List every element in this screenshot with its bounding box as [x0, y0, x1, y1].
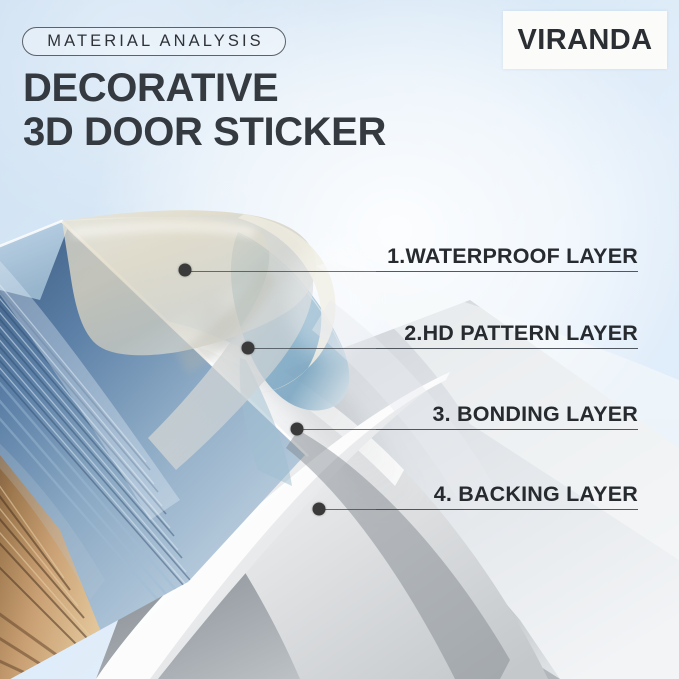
callout-leader-1: [191, 271, 638, 272]
callout-dot-3: [291, 423, 304, 436]
eyebrow-label: MATERIAL ANALYSIS: [44, 32, 264, 51]
eyebrow-pill: MATERIAL ANALYSIS: [22, 27, 286, 56]
brand-name: VIRANDA: [518, 24, 653, 57]
poster-canvas: MATERIAL ANALYSIS DECORATIVE 3D DOOR STI…: [0, 0, 679, 679]
headline-line-2: 3D DOOR STICKER: [23, 110, 386, 154]
callout-label-1: 1.WATERPROOF LAYER: [387, 244, 638, 269]
callout-label-2: 2.HD PATTERN LAYER: [404, 321, 638, 346]
callout-dot-2: [242, 342, 255, 355]
callout-dot-4: [313, 503, 326, 516]
headline-line-1: DECORATIVE: [23, 66, 278, 110]
callout-leader-4: [325, 509, 638, 510]
callout-label-3: 3. BONDING LAYER: [433, 402, 639, 427]
callout-label-4: 4. BACKING LAYER: [434, 482, 638, 507]
callout-leader-3: [303, 429, 638, 430]
brand-logo-box: VIRANDA: [503, 11, 667, 69]
callout-dot-1: [179, 264, 192, 277]
callout-leader-2: [254, 348, 638, 349]
page-title: DECORATIVE 3D DOOR STICKER: [23, 66, 386, 154]
